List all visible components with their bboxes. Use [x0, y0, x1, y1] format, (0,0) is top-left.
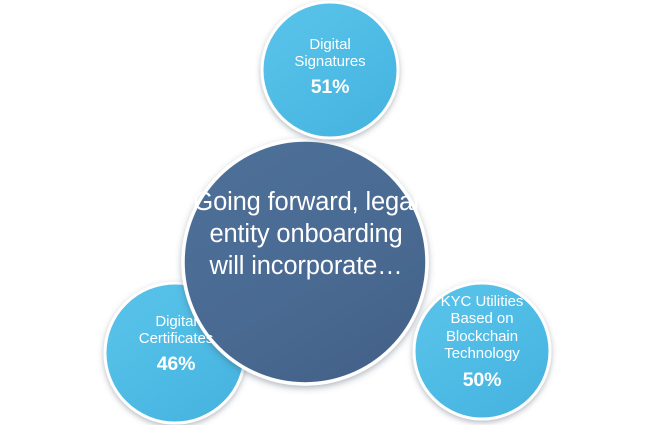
circle-central-question[interactable]	[183, 140, 427, 384]
infographic-canvas: Going forward, legal entity onboarding w…	[0, 0, 650, 425]
circle-digital-signatures[interactable]	[262, 2, 398, 138]
circles-layer	[0, 0, 650, 425]
circle-kyc-utilities-blockchain[interactable]	[414, 283, 550, 419]
